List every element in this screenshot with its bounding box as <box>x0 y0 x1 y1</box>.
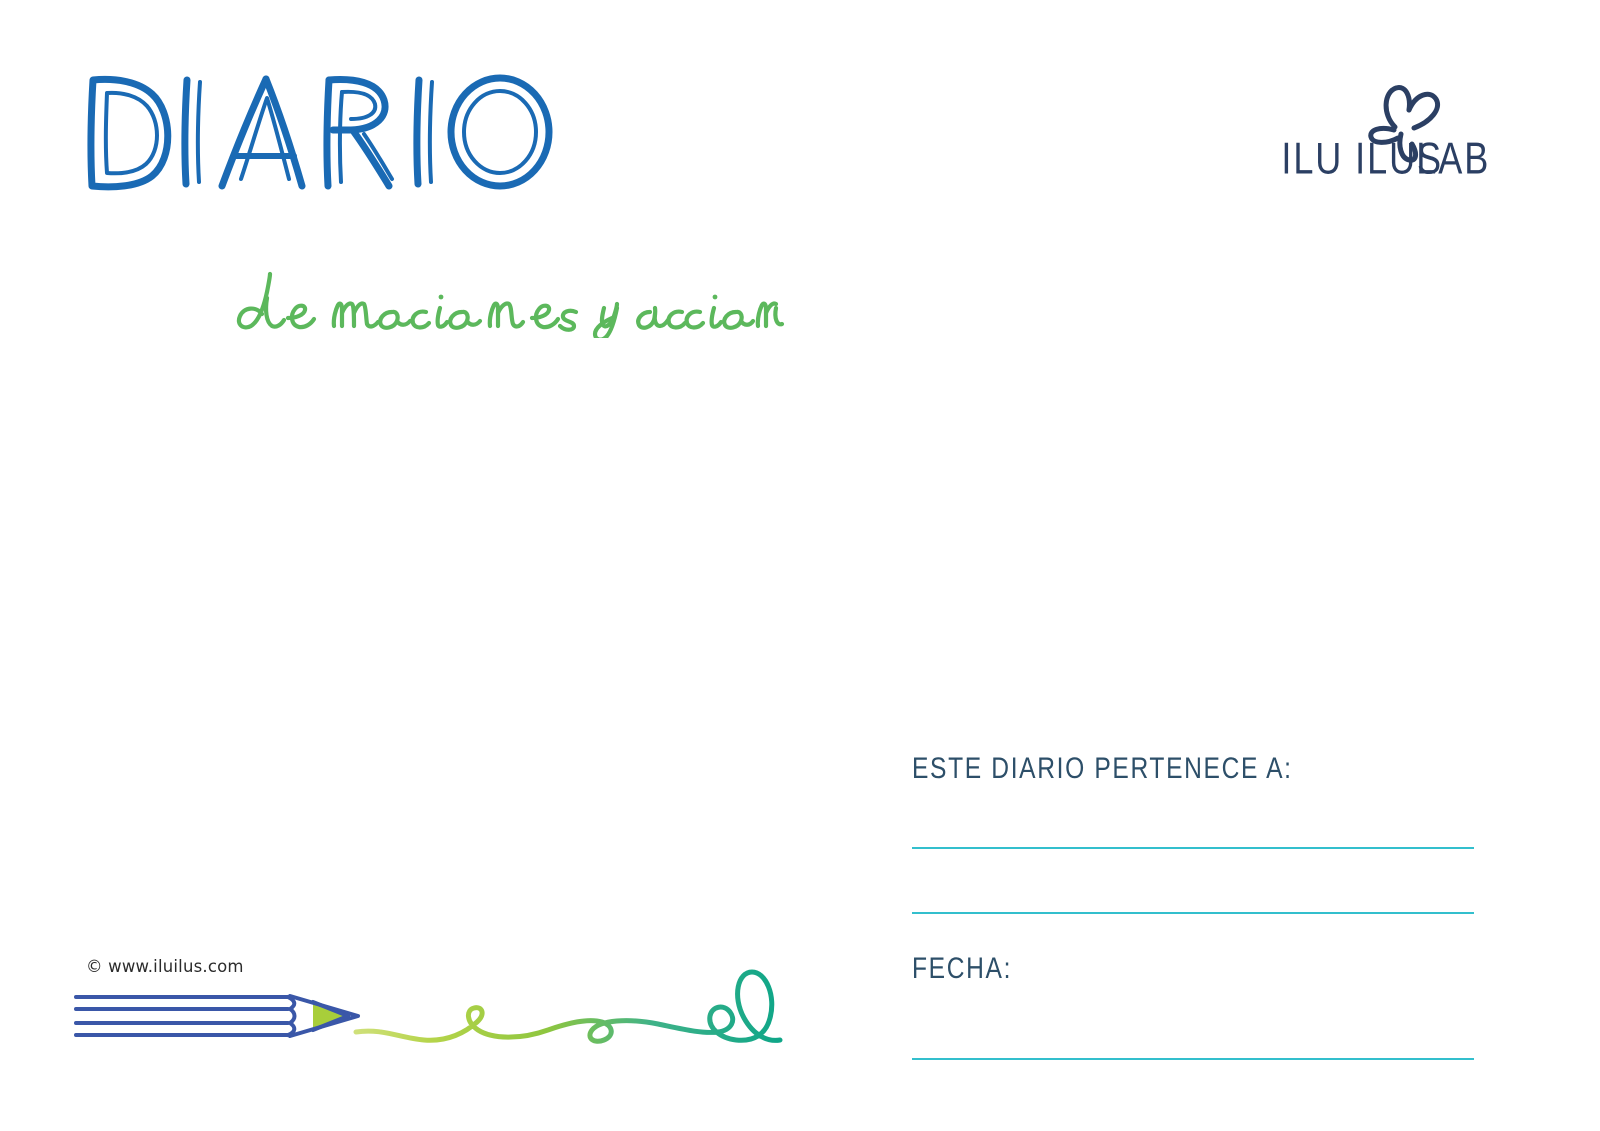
owner-label: ESTE DIARIO PERTENECE A: <box>912 752 1293 786</box>
owner-input-line-2[interactable] <box>912 912 1474 914</box>
brand-logo: ILU ILUS LAB <box>1270 72 1490 192</box>
owner-input-line-1[interactable] <box>912 847 1474 849</box>
date-label: FECHA: <box>912 952 1012 986</box>
svg-text:LAB: LAB <box>1416 133 1490 184</box>
pencil-icon <box>70 985 370 1047</box>
brand-wordmark: ILU ILUS LAB <box>1281 133 1490 184</box>
date-input-line-1[interactable] <box>912 1058 1474 1060</box>
squiggle-flourish <box>352 930 872 1050</box>
copyright-url: © www.iluilus.com <box>86 957 244 976</box>
page-title <box>86 72 556 192</box>
diary-cover-page: ILU ILUS LAB © www.iluilus.com <box>0 0 1600 1131</box>
form-block: ESTE DIARIO PERTENECE A: FECHA: <box>912 752 1474 1072</box>
title-block <box>86 72 706 282</box>
page-subtitle <box>226 268 786 338</box>
